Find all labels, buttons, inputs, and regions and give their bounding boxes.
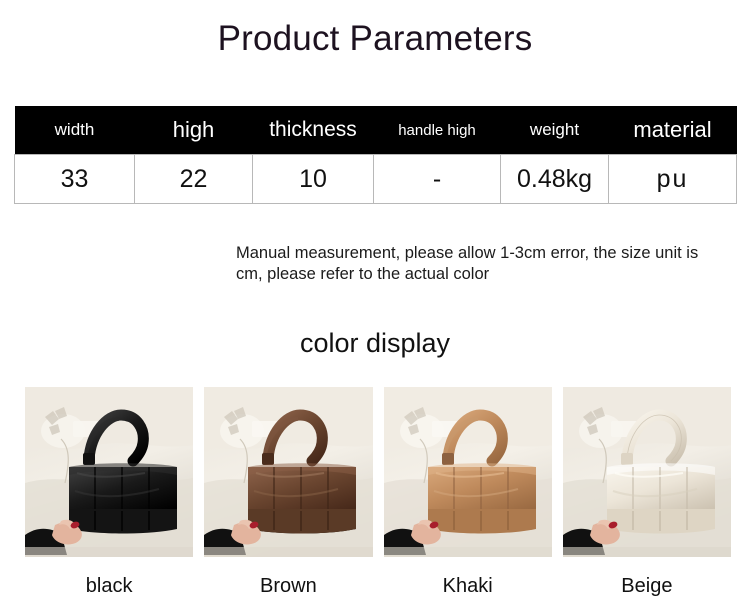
table-row: 33 22 10 - 0.48kg pu	[15, 155, 737, 204]
color-label-beige: Beige	[563, 571, 731, 605]
table-cell-weight: 0.48kg	[501, 155, 609, 204]
color-photo-brown[interactable]	[204, 387, 372, 557]
measurement-note: Manual measurement, please allow 1-3cm e…	[236, 243, 726, 285]
table-cell-width: 33	[15, 155, 135, 204]
table-header-width: width	[15, 106, 135, 155]
color-label-row: black Brown Khaki Beige	[25, 571, 731, 605]
color-photo-strip	[25, 387, 731, 557]
table-cell-material: pu	[609, 155, 737, 204]
table-header-material: material	[609, 106, 737, 155]
table-header-row: width high thickness handle high weight …	[15, 106, 737, 155]
color-photo-beige[interactable]	[563, 387, 731, 557]
color-photo-khaki[interactable]	[384, 387, 552, 557]
table-cell-handle-high: -	[374, 155, 501, 204]
color-label-brown: Brown	[204, 571, 372, 605]
product-parameters-table: width high thickness handle high weight …	[14, 106, 737, 204]
color-display-heading: color display	[0, 328, 750, 359]
color-photo-black[interactable]	[25, 387, 193, 557]
table-header-thickness: thickness	[253, 106, 374, 155]
color-label-khaki: Khaki	[384, 571, 552, 605]
table-cell-thickness: 10	[253, 155, 374, 204]
page-title: Product Parameters	[0, 20, 750, 59]
color-label-black: black	[25, 571, 193, 605]
table-header-high: high	[135, 106, 253, 155]
table-header-weight: weight	[501, 106, 609, 155]
table-header-handle-high: handle high	[374, 106, 501, 155]
table-cell-high: 22	[135, 155, 253, 204]
